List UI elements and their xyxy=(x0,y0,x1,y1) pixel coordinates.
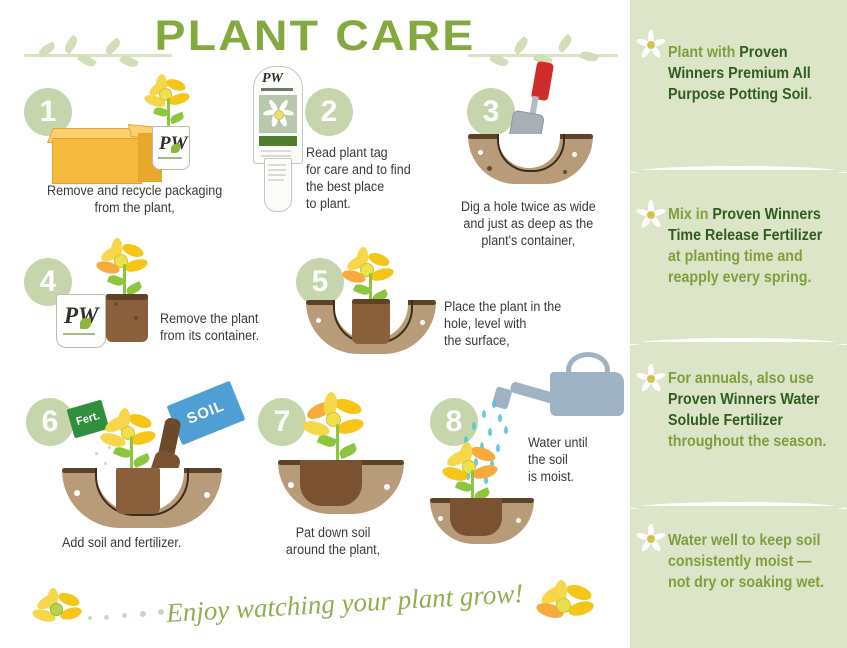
daisy-icon xyxy=(636,200,666,230)
tips-sidebar: Plant with Proven Winners Premium All Pu… xyxy=(630,0,847,648)
step-number-8: 8 xyxy=(430,398,478,446)
step-7-caption: Pat down soil around the plant, xyxy=(254,524,412,558)
sidebar-tip-1-text: Plant with Proven Winners Premium All Pu… xyxy=(668,42,830,105)
footer-tagline: Enjoy watching your plant grow! xyxy=(165,578,524,629)
sidebar-tip-3-text: For annuals, also use Proven Winners Wat… xyxy=(668,368,830,452)
sidebar-tip-4: Water well to keep soil consistently moi… xyxy=(630,514,847,648)
step-number-2: 2 xyxy=(305,88,353,136)
sidebar-tip-3: For annuals, also use Proven Winners Wat… xyxy=(630,350,847,502)
sidebar-tip-2-text: Mix in Proven Winners Time Release Ferti… xyxy=(668,204,830,288)
step-number-3: 3 xyxy=(467,88,515,136)
sidebar-divider-1 xyxy=(630,166,847,178)
step-6-caption: Add soil and fertilizer. xyxy=(62,534,229,551)
page-title: PLANT CARE xyxy=(0,12,655,61)
sidebar-tip-1: Plant with Proven Winners Premium All Pu… xyxy=(630,0,847,166)
step-4-caption: Remove the plant from its container. xyxy=(160,310,290,344)
step-number-7: 7 xyxy=(258,398,306,446)
step-2-caption: Read plant tag for care and to find the … xyxy=(306,144,427,212)
pw-logo: PW xyxy=(262,71,283,87)
daisy-icon xyxy=(636,524,666,554)
step-8-caption: Water until the soil is moist. xyxy=(528,434,630,485)
infographic-page: PLANT CARE 1 PW Remove and recycle pac xyxy=(0,0,847,648)
step-3-caption: Dig a hole twice as wide and just as dee… xyxy=(440,198,617,249)
step-number-6: 6 xyxy=(26,398,74,446)
step-number-5: 5 xyxy=(296,258,344,306)
step-1-caption: Remove and recycle packaging from the pl… xyxy=(30,182,239,216)
soil-bag-label: SOIL xyxy=(167,381,246,445)
title-area: PLANT CARE xyxy=(0,12,630,70)
sidebar-divider-2 xyxy=(630,338,847,350)
daisy-icon xyxy=(636,364,666,394)
step-5-caption: Place the plant in the hole, level with … xyxy=(444,298,602,349)
sidebar-tip-2: Mix in Proven Winners Time Release Ferti… xyxy=(630,178,847,338)
steps-panel: PLANT CARE 1 PW Remove and recycle pac xyxy=(0,0,630,648)
sidebar-tip-4-text: Water well to keep soil consistently moi… xyxy=(668,530,830,593)
sidebar-divider-3 xyxy=(630,502,847,514)
daisy-icon xyxy=(636,30,666,60)
